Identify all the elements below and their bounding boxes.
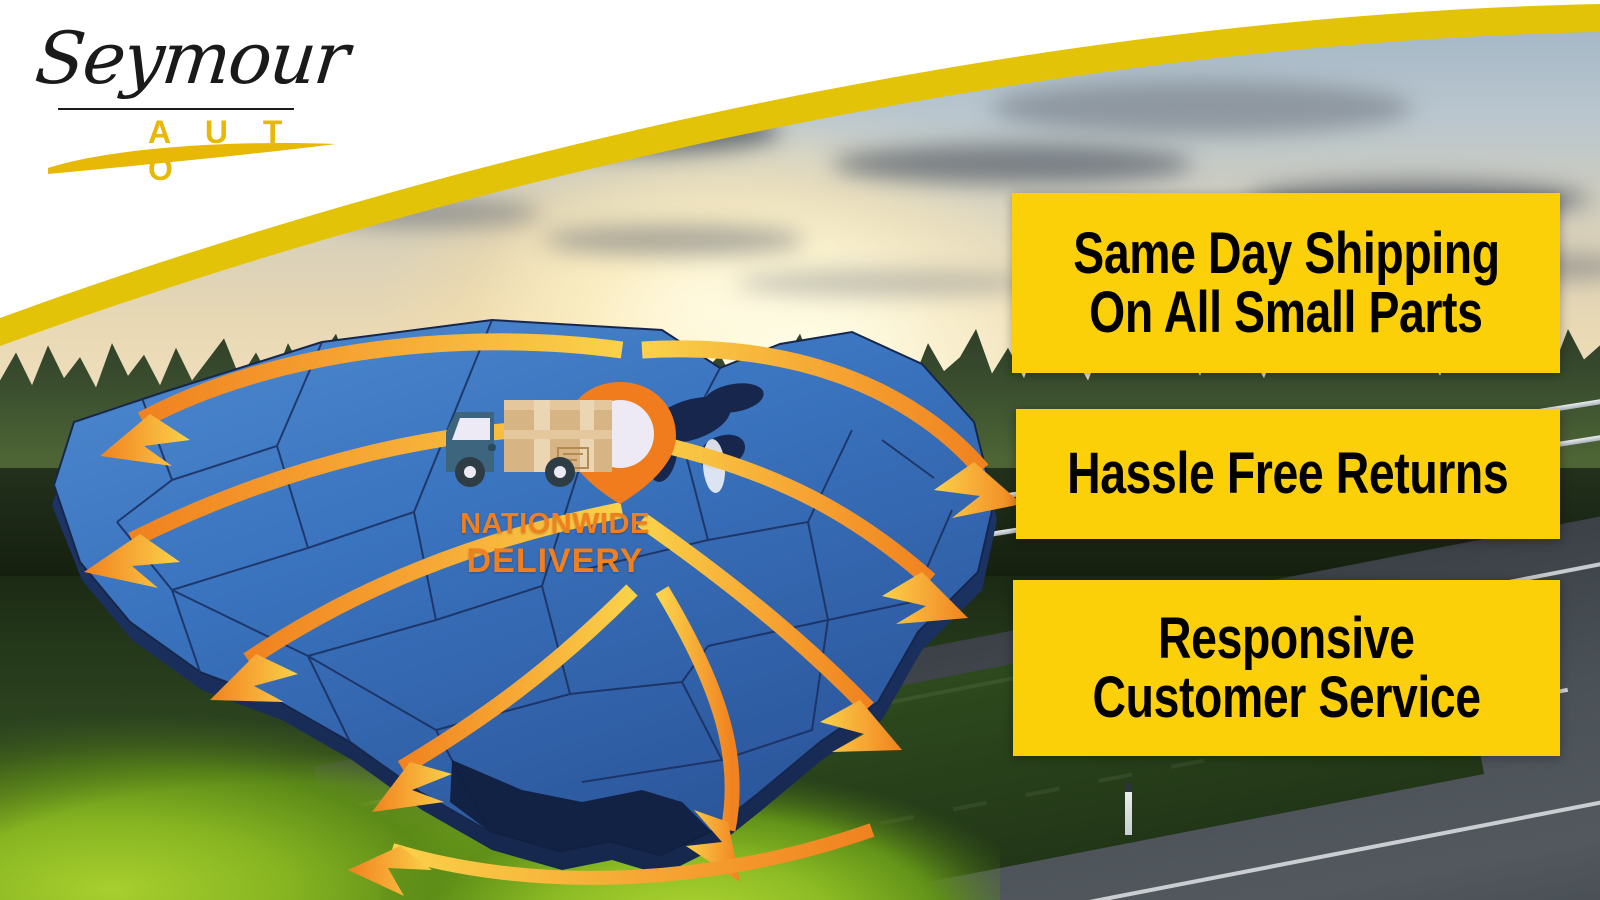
feature-box-responsive-customer-service[interactable]: Responsive Customer Service xyxy=(1013,580,1560,756)
feature-box-hassle-free-returns[interactable]: Hassle Free Returns xyxy=(1016,409,1560,539)
feature-box-same-day-shipping[interactable]: Same Day Shipping On All Small Parts xyxy=(1012,193,1560,373)
delivery-label-line2: DELIVERY xyxy=(430,544,680,578)
brand-logo[interactable]: Seymour A U T O xyxy=(30,16,350,176)
cloud xyxy=(320,198,540,228)
post-cap xyxy=(1125,783,1132,792)
logo-wordmark: Seymour xyxy=(32,22,351,94)
cloud xyxy=(832,144,1192,184)
feature-line: On All Small Parts xyxy=(1089,283,1482,342)
nationwide-delivery-badge: NATIONWIDE DELIVERY xyxy=(430,378,680,588)
feature-line: Same Day Shipping xyxy=(1073,224,1499,283)
logo-swoosh-icon xyxy=(40,134,340,178)
cloud xyxy=(544,225,804,255)
cloud xyxy=(992,81,1412,135)
feature-line: Customer Service xyxy=(1092,668,1480,727)
feature-line: Responsive xyxy=(1158,609,1414,668)
delivery-label-line1: NATIONWIDE xyxy=(430,510,680,539)
feature-line: Hassle Free Returns xyxy=(1067,444,1508,503)
logo-underline xyxy=(58,108,294,110)
promo-banner: Seymour A U T O xyxy=(0,0,1600,900)
delivery-icon-group xyxy=(430,378,680,503)
roadside-post xyxy=(1125,783,1132,835)
cloud xyxy=(480,108,780,154)
